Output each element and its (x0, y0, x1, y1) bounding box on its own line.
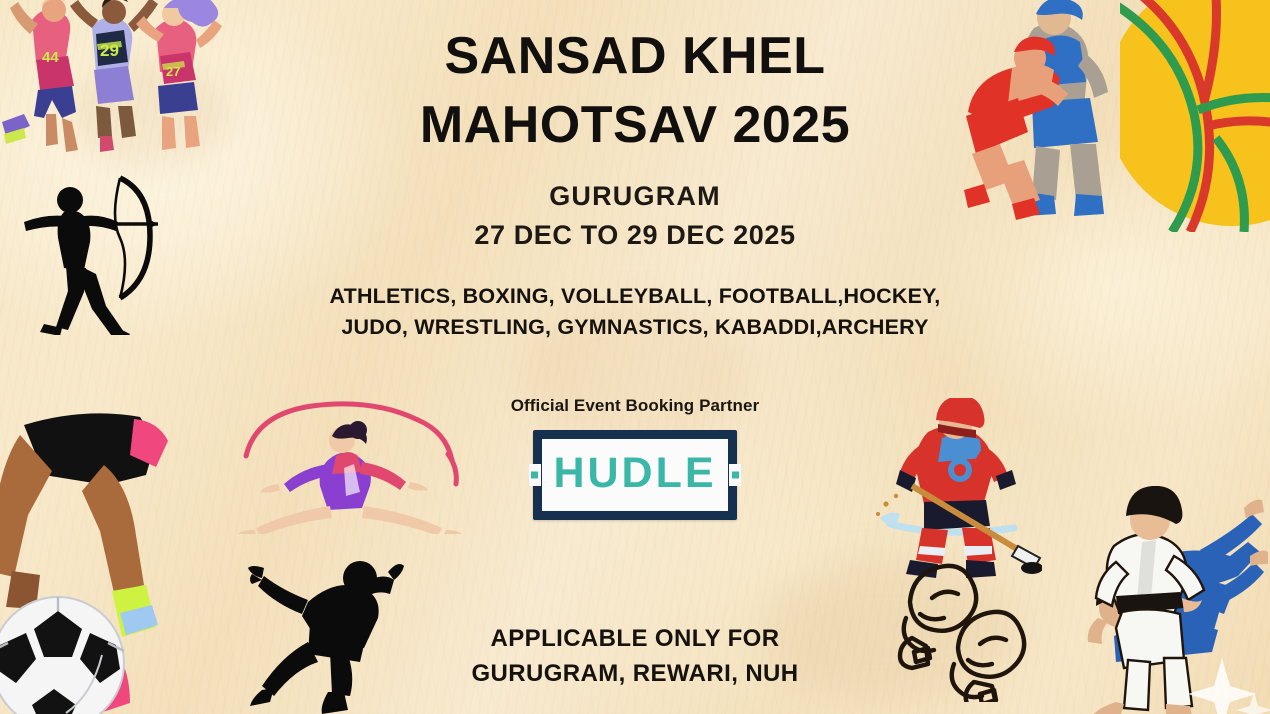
archer-silhouette-illustration (8, 160, 178, 335)
poster-text-block: SANSAD KHEL MAHOTSAV 2025 GURUGRAM 27 DE… (255, 0, 1015, 520)
logo-panel: HUDLE (542, 439, 728, 511)
sports-line-2: JUDO, WRESTLING, GYMNASTICS, KABADDI,ARC… (285, 312, 985, 343)
applicable-line-1: APPLICABLE ONLY FOR (325, 622, 945, 657)
judo-throw-illustration (1058, 486, 1270, 714)
svg-text:44: 44 (42, 49, 59, 66)
logo-notch-tab-left (531, 471, 538, 478)
logo-wordmark: HUDLE (553, 452, 716, 495)
volleyball-illustration (1120, 0, 1270, 232)
footballer-legs-with-soccer-ball-illustration (0, 405, 214, 714)
applicability-note: APPLICABLE ONLY FOR GURUGRAM, REWARI, NU… (325, 622, 945, 692)
page-title: SANSAD KHEL MAHOTSAV 2025 (255, 0, 1015, 160)
event-poster: 44 29 (0, 0, 1270, 714)
hudle-logo[interactable]: HUDLE (533, 430, 737, 520)
applicable-line-2: GURUGRAM, REWARI, NUH (325, 657, 945, 692)
sports-list: ATHLETICS, BOXING, VOLLEYBALL, FOOTBALL,… (285, 281, 985, 343)
logo-notch-tab-right (732, 471, 739, 478)
sports-line-1: ATHLETICS, BOXING, VOLLEYBALL, FOOTBALL,… (285, 281, 985, 312)
title-line-1: SANSAD KHEL (444, 27, 825, 85)
basketball-players-illustration: 44 29 (0, 0, 236, 154)
partner-label: Official Event Booking Partner (255, 396, 1015, 416)
event-dates: 27 DEC TO 29 DEC 2025 (255, 217, 1015, 253)
title-line-2: MAHOTSAV 2025 (255, 91, 1015, 160)
event-city: GURUGRAM (255, 178, 1015, 214)
